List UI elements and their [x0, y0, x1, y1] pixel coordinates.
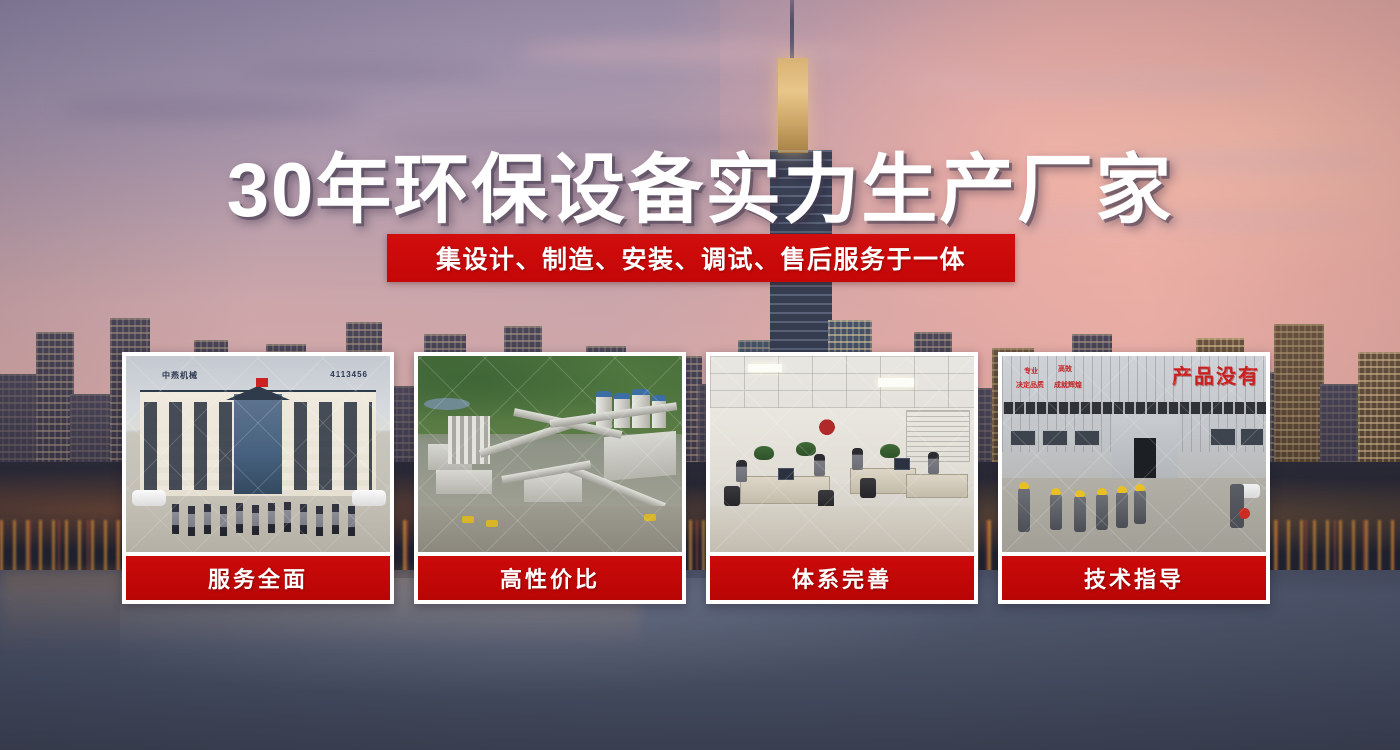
factory-window — [1042, 430, 1068, 446]
card-caption-label: 体系完善 — [792, 562, 892, 594]
worker — [1116, 492, 1128, 528]
ceiling-light — [748, 364, 782, 372]
factory-window — [1210, 428, 1236, 446]
factory-window — [1240, 428, 1264, 446]
feature-card[interactable]: 高性价比 — [414, 352, 686, 604]
staff-person — [252, 505, 259, 535]
excavator — [644, 514, 656, 521]
staff-person — [172, 504, 179, 534]
worker — [1134, 490, 1146, 524]
subtitle-text: 集设计、制造、安装、调试、售后服务于一体 — [436, 240, 966, 276]
plant-yard — [418, 506, 682, 552]
hard-hat-icon — [1135, 484, 1145, 491]
plant-building — [604, 431, 676, 481]
office-chair — [860, 478, 876, 498]
staff-person — [316, 506, 323, 536]
excavator — [486, 520, 498, 527]
potted-plant — [796, 442, 816, 456]
building-sign-text: 中燕机械 — [162, 370, 198, 381]
plant-building — [436, 470, 492, 494]
staff-person — [188, 506, 195, 536]
monitor — [778, 468, 794, 480]
hard-hat-icon — [1117, 486, 1127, 493]
staff-person — [300, 504, 307, 534]
worker — [1096, 494, 1108, 530]
office-worker — [736, 460, 747, 482]
worker — [1018, 488, 1030, 532]
factory-slogan-left2: 高效 — [1058, 364, 1072, 374]
parked-car — [352, 490, 386, 506]
subtitle-banner: 集设计、制造、安装、调试、售后服务于一体 — [387, 234, 1015, 282]
office-floor — [710, 506, 974, 552]
potted-plant — [754, 446, 774, 460]
promotional-banner: 30年环保设备实力生产厂家 集设计、制造、安装、调试、售后服务于一体 中燕机械 … — [0, 0, 1400, 750]
factory-window — [1010, 430, 1036, 446]
factory-window — [1074, 430, 1100, 446]
card-caption: 技术指导 — [1002, 556, 1266, 600]
supervisor — [1230, 484, 1244, 528]
office-worker — [852, 448, 863, 470]
ceiling-light — [878, 378, 914, 387]
glass-entrance — [234, 394, 282, 494]
page-title: 30年环保设备实力生产厂家 — [0, 128, 1400, 238]
office-desk — [740, 476, 830, 504]
worker — [1074, 496, 1086, 532]
staff-person — [348, 506, 355, 536]
hard-hat-icon — [1075, 490, 1085, 497]
staff-person — [220, 506, 227, 536]
factory-slogan-sub2: 成就辉煌 — [1054, 380, 1082, 390]
staff-person — [236, 503, 243, 533]
feature-card[interactable]: 产品没有 专业 高效 决定品质 成就辉煌 — [998, 352, 1270, 604]
feature-card[interactable]: 中燕机械 4113456 — [122, 352, 394, 604]
wall-logo — [814, 414, 840, 436]
staff-person — [332, 504, 339, 534]
office-worker — [814, 454, 825, 476]
staff-person — [284, 502, 291, 532]
card-caption-label: 技术指导 — [1084, 562, 1184, 594]
office-desk — [906, 474, 968, 498]
flag-icon — [256, 378, 268, 387]
potted-plant — [880, 444, 900, 458]
staff-person — [268, 503, 275, 533]
monitor — [894, 458, 910, 470]
excavator — [462, 516, 474, 523]
card-photo-office-building: 中燕机械 4113456 — [126, 356, 390, 552]
parked-car — [132, 490, 166, 506]
card-caption-label: 服务全面 — [208, 562, 308, 594]
card-caption: 服务全面 — [126, 556, 390, 600]
worker — [1050, 494, 1062, 530]
card-photo-industrial-plant — [418, 356, 682, 552]
hard-hat-icon — [1051, 488, 1061, 495]
feature-card[interactable]: 体系完善 — [706, 352, 978, 604]
factory-slogan-left: 专业 — [1024, 366, 1038, 376]
card-caption: 高性价比 — [418, 556, 682, 600]
hard-hat-icon — [1097, 488, 1107, 495]
staff-person — [204, 504, 211, 534]
factory-door — [1134, 438, 1156, 478]
red-helmet-icon — [1239, 508, 1250, 519]
factory-slogan-sub: 决定品质 — [1016, 380, 1044, 390]
pond — [424, 398, 470, 410]
office-worker — [928, 452, 939, 474]
facade-louvre-band — [1002, 402, 1266, 414]
hard-hat-icon — [1019, 482, 1029, 489]
office-chair — [724, 486, 740, 506]
card-caption-label: 高性价比 — [500, 562, 600, 594]
card-photo-factory-workers: 产品没有 专业 高效 决定品质 成就辉煌 — [1002, 356, 1266, 552]
factory-slogan-main: 产品没有 — [1172, 360, 1260, 389]
feature-card-list: 中燕机械 4113456 — [122, 352, 1278, 604]
card-caption: 体系完善 — [710, 556, 974, 600]
card-photo-office-interior — [710, 356, 974, 552]
building-phone-text: 4113456 — [330, 370, 368, 379]
